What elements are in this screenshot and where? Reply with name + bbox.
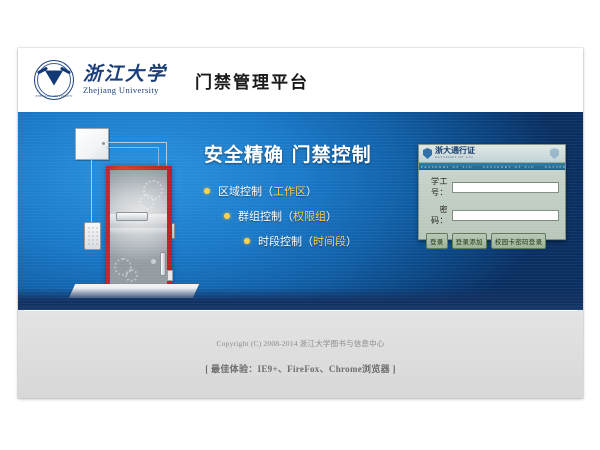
door-lock-icon [150,258,157,265]
list-item: 时段控制（时间段） [204,233,424,249]
login-panel: 浙大通行证 PASSPORT OF ZJU PASSPORT OF ZJU PA… [418,144,566,240]
passport-strip-text: PASSPORT OF ZJU [421,165,473,169]
password-row: 密 码： [425,204,559,226]
feature-tail: ） [346,235,357,248]
login-panel-header: 浙大通行证 PASSPORT OF ZJU [419,145,565,163]
wire [107,147,159,148]
feature-accent: 工作区 [273,185,306,198]
campus-card-login-button[interactable]: 校园卡密码登录 [491,233,547,249]
zju-seal-icon: ZHEJIANG UNIVERSITY [34,60,74,100]
zju-wordmark-cn: 浙江大学 [83,65,167,84]
passport-strip-text: PASSPORT OF ZJU [483,165,535,169]
shield-icon [550,148,559,159]
door-strike-icon [167,270,173,281]
hero-text-block: 安全精确 门禁控制 区域控制（工作区） 群组控制（权限组） 时段控制（时间段） [204,140,424,258]
passport-strip-text: PASSPORT OF ZJU [545,165,565,169]
bullet-icon [204,188,210,194]
feature-text: 区域控制（ [218,185,273,198]
zju-wordmark: 浙江大学 Zhejiang University [83,65,167,95]
login-panel-title: 浙大通行证 [435,147,475,155]
bullet-icon [244,238,250,244]
feature-text: 时段控制（ [258,235,313,248]
controller-box-icon [75,128,109,160]
access-control-illustration [40,120,195,306]
feature-tail: ） [326,210,337,223]
hero-banner: 安全精确 门禁控制 区域控制（工作区） 群组控制（权限组） 时段控制（时间段） … [18,112,583,310]
wire [91,158,92,224]
copyright-text: Copyright (C) 2008-2014 浙江大学图书与信息中心 [18,310,583,349]
shield-icon [423,148,432,159]
door-closer-icon [116,212,148,221]
passport-strip: PASSPORT OF ZJU PASSPORT OF ZJU PASSPORT… [419,163,565,170]
browser-compatibility-note: [ 最佳体验：IE9+、FireFox、Chrome浏览器 ] [18,362,583,375]
site-header: ZHEJIANG UNIVERSITY 浙江大学 Zhejiang Univer… [18,48,583,112]
zju-wordmark-en: Zhejiang University [83,86,167,95]
list-item: 群组控制（权限组） [204,208,424,224]
page-container: ZHEJIANG UNIVERSITY 浙江大学 Zhejiang Univer… [18,48,583,398]
username-row: 学工号： [425,176,559,198]
login-button[interactable]: 登录 [426,233,448,249]
site-footer: Copyright (C) 2008-2014 浙江大学图书与信息中心 [ 最佳… [18,310,583,398]
feature-text: 群组控制（ [238,210,293,223]
feature-accent: 权限组 [293,210,326,223]
username-input[interactable] [452,182,559,193]
list-item: 区域控制（工作区） [204,183,424,199]
feature-list: 区域控制（工作区） 群组控制（权限组） 时段控制（时间段） [204,183,424,249]
feature-accent: 时间段 [313,235,346,248]
door-frame [106,166,172,288]
login-panel-subtitle: PASSPORT OF ZJU [435,156,475,159]
keypad-reader-icon [84,222,101,250]
login-add-button[interactable]: 登录添加 [452,233,487,249]
username-label: 学工号： [425,176,452,198]
zju-seal-ring-text: ZHEJIANG UNIVERSITY [34,94,74,98]
door-handle-icon [160,252,166,276]
wire [107,142,167,143]
banner-bottom-fade [18,288,583,310]
password-input[interactable] [452,210,559,221]
login-button-row: 登录 登录添加 校园卡密码登录 [419,232,565,249]
door-leaf [110,170,167,288]
page-title: 门禁管理平台 [195,68,309,93]
bullet-icon [224,213,230,219]
hero-headline: 安全精确 门禁控制 [204,140,424,167]
login-form: 学工号： 密 码： [419,170,565,226]
feature-tail: ） [306,185,317,198]
password-label: 密 码： [425,204,452,226]
